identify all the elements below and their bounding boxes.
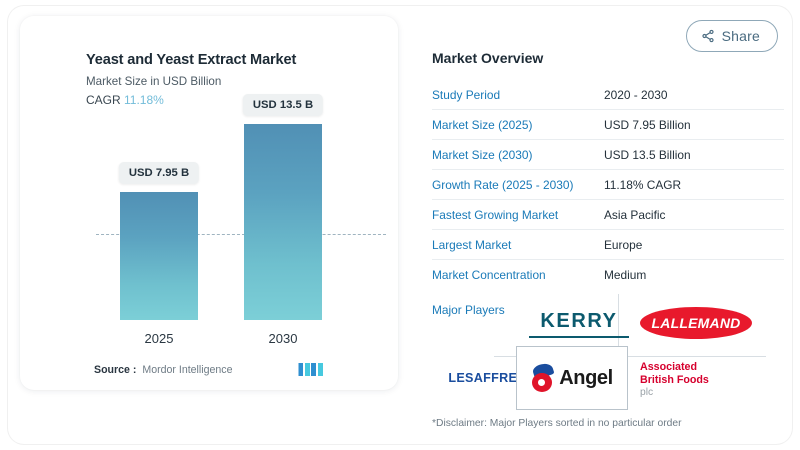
chart-cagr-label: CAGR [86,93,121,107]
row-key: Market Concentration [432,268,604,282]
source-value: Mordor Intelligence [142,364,232,376]
table-row: Market Size (2030) USD 13.5 Billion [432,140,784,170]
market-overview-table: Study Period 2020 - 2030 Market Size (20… [432,80,784,289]
abf-logo-line2: British Foods [640,374,709,387]
bar-2030[interactable] [244,124,322,320]
table-row: Market Size (2025) USD 7.95 Billion [432,110,784,140]
share-button[interactable]: Share [686,20,778,52]
row-key: Study Period [432,88,604,102]
share-button-label: Share [722,28,760,44]
lallemand-logo-oval: LALLEMAND [640,307,752,339]
kerry-logo: KERRY [526,304,632,344]
market-overview-title: Market Overview [432,50,784,66]
row-key: Growth Rate (2025 - 2030) [432,178,604,192]
disclaimer-text: *Disclaimer: Major Players sorted in no … [432,418,682,429]
table-row: Fastest Growing Market Asia Pacific [432,200,784,230]
table-row: Largest Market Europe [432,230,784,260]
lesaffre-logo-text: LESAFFRE [448,371,517,385]
bar-2025-fill [120,192,198,320]
report-canvas: Share Yeast and Yeast Extract Market Mar… [8,6,792,444]
bar-2030-value-label: USD 13.5 B [243,94,323,116]
row-value: Asia Pacific [604,208,665,222]
abf-logo-line1: Associated [640,361,697,374]
screenshot-root: Share Yeast and Yeast Extract Market Mar… [0,0,800,450]
x-tick-2030: 2030 [269,331,298,346]
row-key: Market Size (2030) [432,148,604,162]
abf-logo-line3: plc [640,386,653,399]
major-players-logos: KERRY LALLEMAND LESAFFRE ➹ Angel [432,294,784,406]
kerry-logo-text: KERRY [540,310,617,333]
chart-title: Yeast and Yeast Extract Market [86,52,398,68]
share-icon [701,29,715,43]
mordor-intelligence-logo-icon [298,363,323,376]
table-row: Study Period 2020 - 2030 [432,80,784,110]
row-value: 11.18% CAGR [604,178,681,192]
table-row: Market Concentration Medium [432,260,784,289]
chart-cagr-value: 11.18% [124,93,164,107]
row-key: Largest Market [432,238,604,252]
chart-card: Yeast and Yeast Extract Market Market Si… [20,16,398,390]
bar-2025[interactable] [120,192,198,320]
row-value: 2020 - 2030 [604,88,667,102]
angel-logo-text: Angel [559,367,613,390]
row-value: USD 13.5 Billion [604,148,691,162]
row-key: Fastest Growing Market [432,208,604,222]
angel-logo-mark-icon [531,365,557,391]
chart-header: Yeast and Yeast Extract Market Market Si… [20,16,398,107]
row-value: Europe [604,238,642,252]
chart-subtitle: Market Size in USD Billion [86,75,398,88]
row-key: Market Size (2025) [432,118,604,132]
row-value: Medium [604,268,646,282]
associated-british-foods-logo: Associated British Foods plc [640,358,770,402]
x-tick-2025: 2025 [145,331,174,346]
market-overview-panel: Market Overview Study Period 2020 - 2030… [432,50,784,317]
bar-2030-fill [244,124,322,320]
bar-2025-value-label: USD 7.95 B [119,162,199,184]
source-label: Source : [94,364,136,376]
angel-logo: Angel [516,346,628,410]
lallemand-logo-text: LALLEMAND [652,315,741,331]
kerry-logo-underline [529,336,629,339]
lallemand-logo: LALLEMAND [638,306,754,340]
bar-chart-plot: USD 7.95 B USD 13.5 B 2025 2030 [20,124,398,362]
source-row: Source : Mordor Intelligence [20,363,398,376]
table-row: Growth Rate (2025 - 2030) 11.18% CAGR [432,170,784,200]
row-value: USD 7.95 Billion [604,118,691,132]
